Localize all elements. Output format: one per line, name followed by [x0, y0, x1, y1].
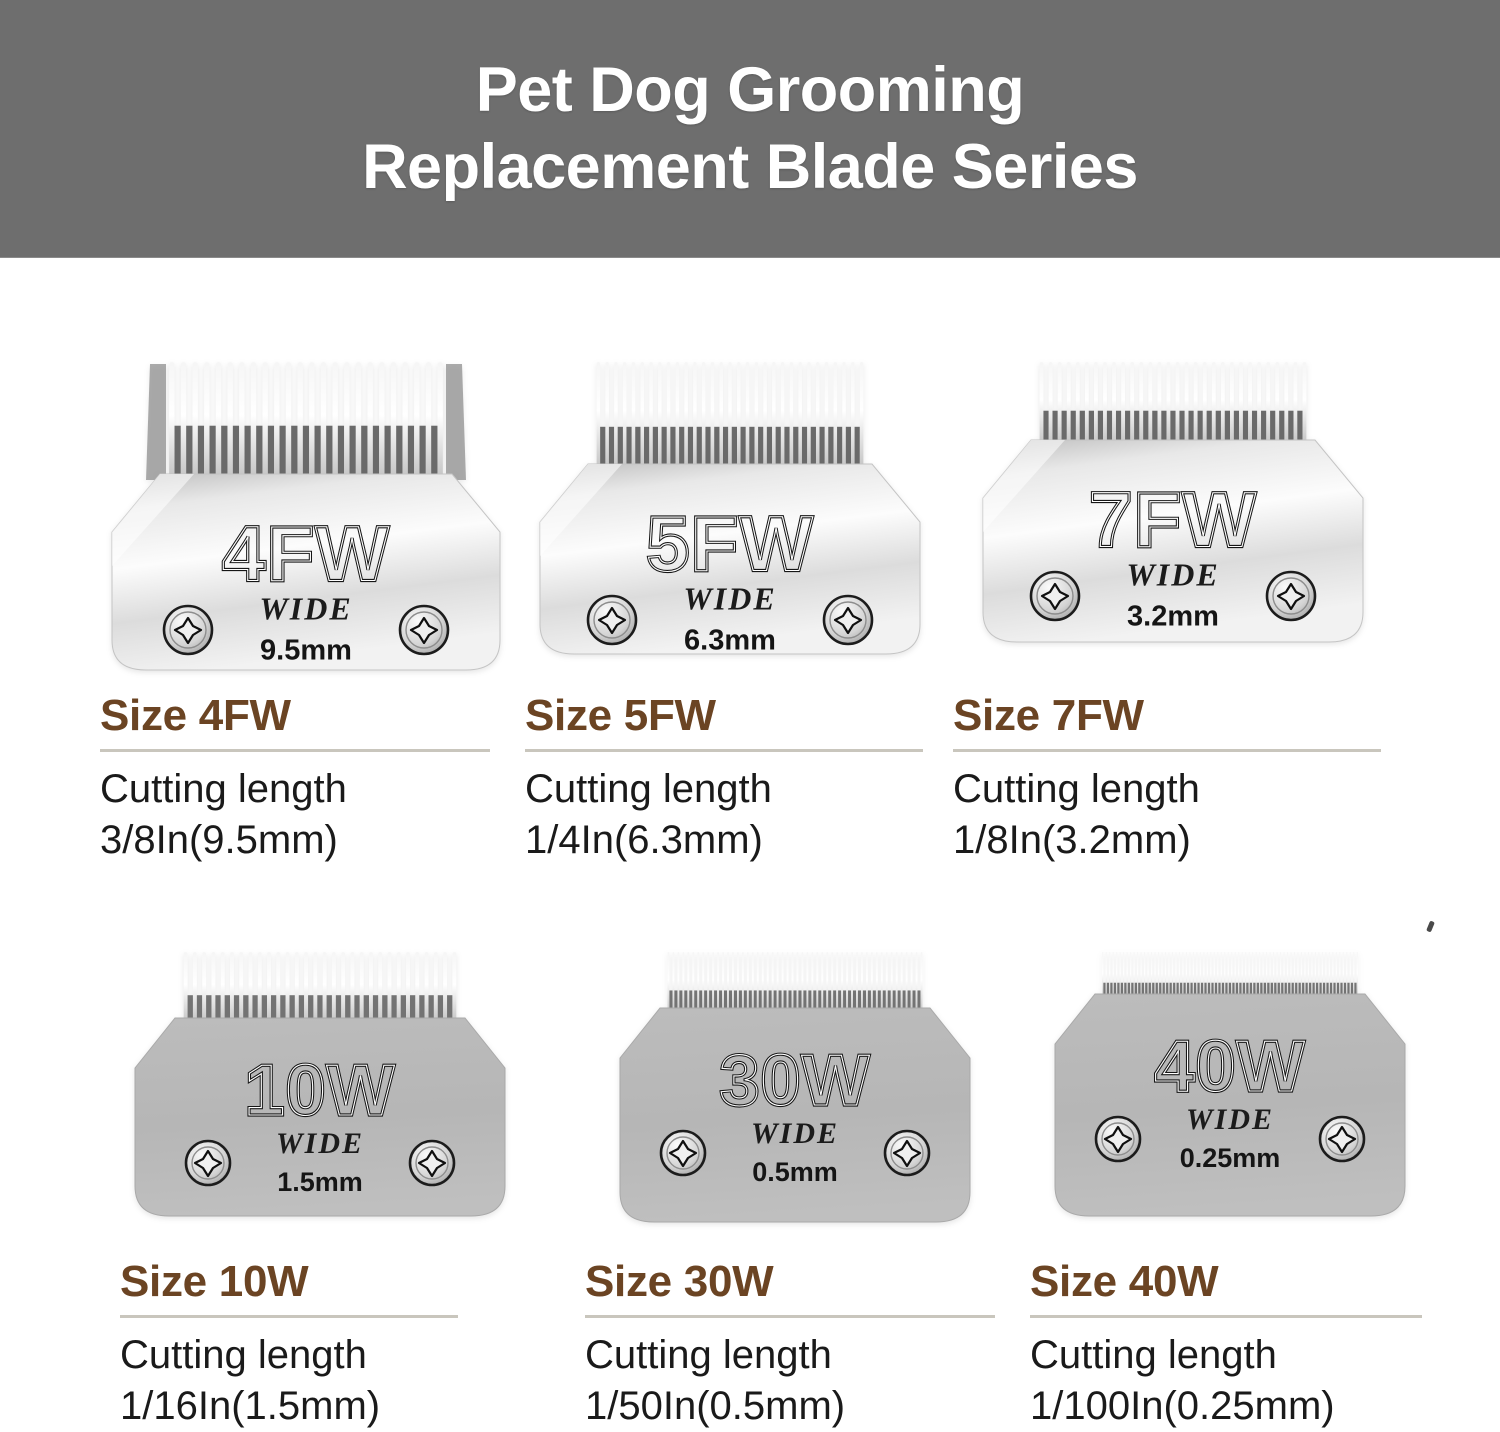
blade-graphic: 5FW 5FW WIDE 6.3mm	[534, 358, 926, 658]
cutting-length-value: 1/50In(0.5mm)	[585, 1381, 1005, 1432]
title-divider	[100, 749, 490, 752]
blade-graphic: 7FW 7FW WIDE 3.2mm	[977, 358, 1369, 646]
svg-text:10W: 10W	[244, 1051, 395, 1131]
product-card-7fw[interactable]: 7FW 7FW WIDE 3.2mm Size 7FW Cutting leng…	[953, 358, 1393, 866]
product-card-40w[interactable]: 40W 40W WIDE 0.25mm Size 40W Cutting len…	[1030, 948, 1430, 1432]
blade-graphic: 10W 10W WIDE 1.5mm	[129, 948, 511, 1220]
svg-text:1.5mm: 1.5mm	[277, 1167, 363, 1197]
svg-text:5FW: 5FW	[646, 500, 814, 588]
blade-image-4fw: 4FW 4FW WIDE 9.5mm	[100, 358, 512, 678]
svg-text:9.5mm: 9.5mm	[260, 635, 352, 667]
blade-image-5fw: 5FW 5FW WIDE 6.3mm	[525, 358, 935, 678]
header-banner: Pet Dog Grooming Replacement Blade Serie…	[0, 0, 1500, 258]
svg-text:7FW: 7FW	[1089, 476, 1257, 564]
size-title: Size 30W	[585, 1258, 1005, 1306]
svg-text:0.25mm: 0.25mm	[1180, 1143, 1281, 1173]
product-info: Size 30W Cutting length 1/50In(0.5mm)	[585, 1258, 1005, 1432]
svg-text:40W: 40W	[1154, 1027, 1305, 1107]
cutting-length-label: Cutting length	[525, 764, 935, 815]
product-card-30w[interactable]: 30W 30W WIDE 0.5mm Size 30W Cutting leng…	[585, 948, 1005, 1432]
size-title: Size 40W	[1030, 1258, 1430, 1306]
svg-text:0.5mm: 0.5mm	[752, 1157, 838, 1187]
blade-graphic: 40W 40W WIDE 0.25mm	[1049, 948, 1411, 1220]
title-divider	[1030, 1315, 1422, 1318]
cutting-length-label: Cutting length	[120, 1330, 520, 1381]
cutting-length-value: 3/8In(9.5mm)	[100, 815, 512, 866]
product-card-10w[interactable]: 10W 10W WIDE 1.5mm Size 10W Cutting leng…	[120, 948, 520, 1432]
svg-text:WIDE: WIDE	[683, 580, 776, 616]
svg-text:WIDE: WIDE	[1126, 556, 1219, 592]
product-info: Size 40W Cutting length 1/100In(0.25mm)	[1030, 1258, 1430, 1432]
svg-text:3.2mm: 3.2mm	[1127, 601, 1219, 633]
title-divider	[120, 1315, 458, 1318]
page-title-line-2: Replacement Blade Series	[362, 129, 1138, 206]
blade-graphic: 4FW 4FW WIDE 9.5mm	[106, 358, 506, 674]
blade-image-7fw: 7FW 7FW WIDE 3.2mm	[953, 358, 1393, 678]
svg-text:WIDE: WIDE	[751, 1117, 839, 1150]
blade-image-10w: 10W 10W WIDE 1.5mm	[120, 948, 520, 1248]
cutting-length-value: 1/16In(1.5mm)	[120, 1381, 520, 1432]
product-row-top: 4FW 4FW WIDE 9.5mm Size 4FW Cutting leng…	[0, 358, 1500, 888]
cutting-length-value: 1/100In(0.25mm)	[1030, 1381, 1430, 1432]
title-divider	[953, 749, 1381, 752]
product-row-bottom: 10W 10W WIDE 1.5mm Size 10W Cutting leng…	[0, 948, 1500, 1408]
svg-text:6.3mm: 6.3mm	[684, 625, 776, 657]
blade-graphic: 30W 30W WIDE 0.5mm	[614, 948, 976, 1226]
size-title: Size 10W	[120, 1258, 520, 1306]
blade-image-30w: 30W 30W WIDE 0.5mm	[585, 948, 1005, 1248]
product-info: Size 4FW Cutting length 3/8In(9.5mm)	[100, 692, 512, 866]
cutting-length-label: Cutting length	[100, 764, 512, 815]
product-info: Size 7FW Cutting length 1/8In(3.2mm)	[953, 692, 1393, 866]
svg-text:4FW: 4FW	[222, 510, 390, 598]
cutting-length-label: Cutting length	[585, 1330, 1005, 1381]
product-card-5fw[interactable]: 5FW 5FW WIDE 6.3mm Size 5FW Cutting leng…	[525, 358, 935, 866]
cutting-length-value: 1/4In(6.3mm)	[525, 815, 935, 866]
svg-text:WIDE: WIDE	[276, 1127, 364, 1160]
product-card-4fw[interactable]: 4FW 4FW WIDE 9.5mm Size 4FW Cutting leng…	[100, 358, 512, 866]
title-divider	[585, 1315, 995, 1318]
blade-image-40w: 40W 40W WIDE 0.25mm	[1030, 948, 1430, 1248]
cutting-length-label: Cutting length	[1030, 1330, 1430, 1381]
product-info: Size 10W Cutting length 1/16In(1.5mm)	[120, 1258, 520, 1432]
size-title: Size 7FW	[953, 692, 1393, 740]
size-title: Size 5FW	[525, 692, 935, 740]
svg-text:WIDE: WIDE	[259, 590, 352, 626]
title-divider	[525, 749, 923, 752]
cutting-length-label: Cutting length	[953, 764, 1393, 815]
svg-text:30W: 30W	[719, 1041, 870, 1121]
svg-text:WIDE: WIDE	[1186, 1103, 1274, 1136]
size-title: Size 4FW	[100, 692, 512, 740]
product-grid: 4FW 4FW WIDE 9.5mm Size 4FW Cutting leng…	[0, 258, 1500, 1408]
product-info: Size 5FW Cutting length 1/4In(6.3mm)	[525, 692, 935, 866]
page-title-line-1: Pet Dog Grooming	[476, 52, 1024, 129]
cutting-length-value: 1/8In(3.2mm)	[953, 815, 1393, 866]
